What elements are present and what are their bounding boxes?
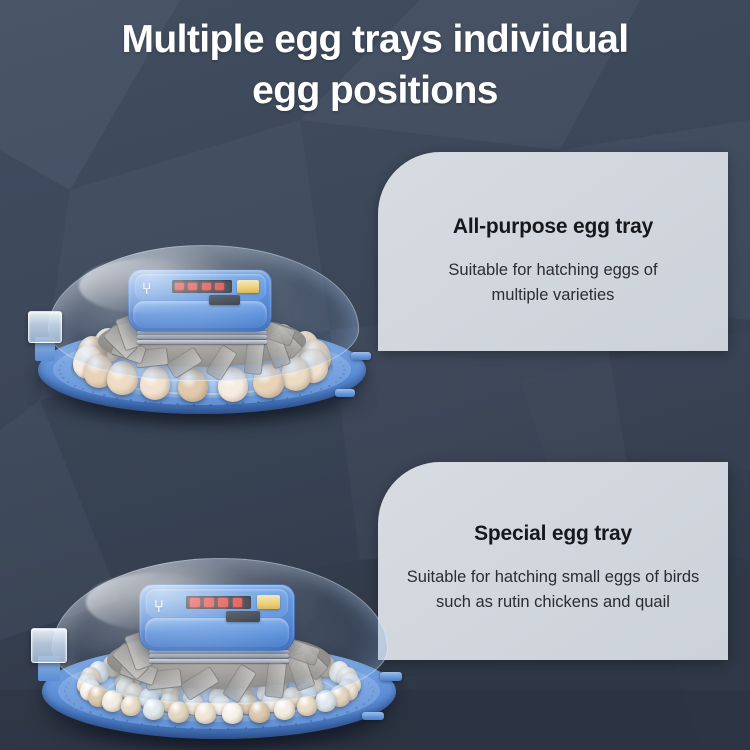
card-description-line-1: Suitable for hatching small eggs of bird… bbox=[390, 565, 716, 590]
card-description-line-1: Suitable for hatching eggs of bbox=[390, 258, 716, 283]
incubator-body: ⑂ bbox=[18, 228, 388, 423]
title-line-2: egg positions bbox=[0, 65, 750, 116]
card-description-line-2: multiple varieties bbox=[390, 283, 716, 308]
egg bbox=[195, 702, 216, 724]
side-nozzle-lower bbox=[362, 712, 384, 720]
promo-page: Multiple egg trays individual egg positi… bbox=[0, 0, 750, 750]
side-nozzle-upper bbox=[351, 352, 371, 360]
card-description-line-2: such as rutin chickens and quail bbox=[390, 590, 716, 615]
egg bbox=[222, 702, 243, 724]
dome-highlight bbox=[86, 573, 227, 631]
water-fill-cap[interactable] bbox=[28, 311, 61, 343]
card-description: Suitable for hatching eggs of multiple v… bbox=[390, 258, 716, 308]
side-nozzle-upper bbox=[380, 672, 402, 680]
dome-highlight bbox=[79, 259, 209, 313]
product-image-incubator-all-purpose: ⑂ bbox=[18, 228, 388, 423]
card-heading: Special egg tray bbox=[378, 522, 728, 546]
egg bbox=[168, 701, 189, 723]
egg bbox=[249, 701, 270, 723]
info-card-all-purpose: All-purpose egg tray Suitable for hatchi… bbox=[378, 152, 728, 351]
title-line-1: Multiple egg trays individual bbox=[0, 14, 750, 65]
incubator-body: ⑂ bbox=[20, 540, 420, 748]
product-image-incubator-special: ⑂ bbox=[20, 540, 420, 748]
info-card-special: Special egg tray Suitable for hatching s… bbox=[378, 462, 728, 660]
card-heading: All-purpose egg tray bbox=[378, 215, 728, 239]
water-fill-cap[interactable] bbox=[31, 628, 67, 662]
card-description: Suitable for hatching small eggs of bird… bbox=[390, 565, 716, 615]
side-nozzle-lower bbox=[335, 389, 355, 397]
page-title: Multiple egg trays individual egg positi… bbox=[0, 14, 750, 116]
